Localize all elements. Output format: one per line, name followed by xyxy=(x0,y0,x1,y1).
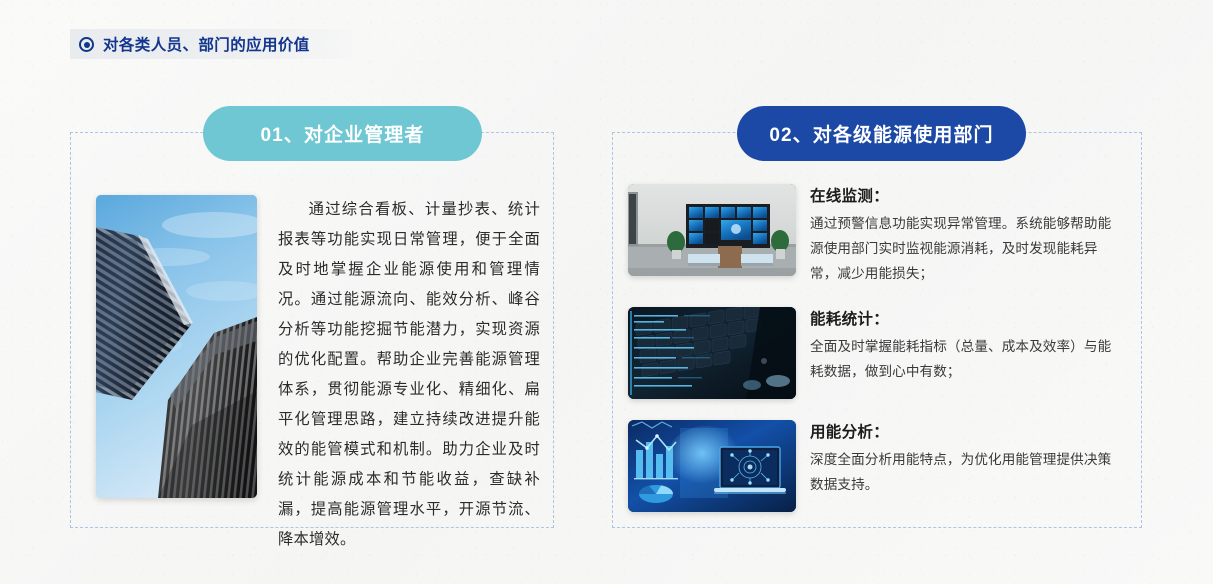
skyscraper-buildings-photo xyxy=(96,195,257,498)
feature-description: 深度全面分析用能特点，为优化用能管理提供决策数据支持。 xyxy=(810,447,1124,497)
target-bullseye-icon xyxy=(79,37,94,52)
feature-item: 在线监测： 通过预警信息功能实现异常管理。系统能够帮助能源使用部门实时监视能源消… xyxy=(628,184,1124,286)
control-room-video-wall-photo xyxy=(628,184,796,276)
feature-item: 用能分析： 深度全面分析用能特点，为优化用能管理提供决策数据支持。 xyxy=(628,420,1124,512)
feature-item: 能耗统计： 全面及时掌握能耗指标（总量、成本及效率）与能耗数据，做到心中有数； xyxy=(628,307,1124,399)
section-01-paragraph: 通过综合看板、计量抄表、统计报表等功能实现日常管理，便于全面及时地掌握企业能源使… xyxy=(278,195,540,528)
feature-title: 在线监测： xyxy=(810,185,1124,209)
feature-description: 通过预警信息功能实现异常管理。系统能够帮助能源使用部门实时监视能源消耗，及时发现… xyxy=(810,211,1124,286)
feature-description: 全面及时掌握能耗指标（总量、成本及效率）与能耗数据，做到心中有数； xyxy=(810,334,1124,384)
page-title: 对各类人员、部门的应用价值 xyxy=(103,33,310,55)
section-01-body: 通过综合看板、计量抄表、统计报表等功能实现日常管理，便于全面及时地掌握企业能源使… xyxy=(70,132,554,528)
feature-title: 能耗统计： xyxy=(810,308,1124,332)
page-header: 对各类人员、部门的应用价值 xyxy=(70,29,352,59)
section-02-body: 在线监测： 通过预警信息功能实现异常管理。系统能够帮助能源使用部门实时监视能源消… xyxy=(612,132,1142,528)
feature-title: 用能分析： xyxy=(810,421,1124,445)
data-analytics-laptop-photo xyxy=(628,420,796,512)
section-01-pill-title: 01、对企业管理者 xyxy=(203,106,482,161)
keyboard-code-overlay-photo xyxy=(628,307,796,399)
section-02-pill-title: 02、对各级能源使用部门 xyxy=(737,106,1026,161)
